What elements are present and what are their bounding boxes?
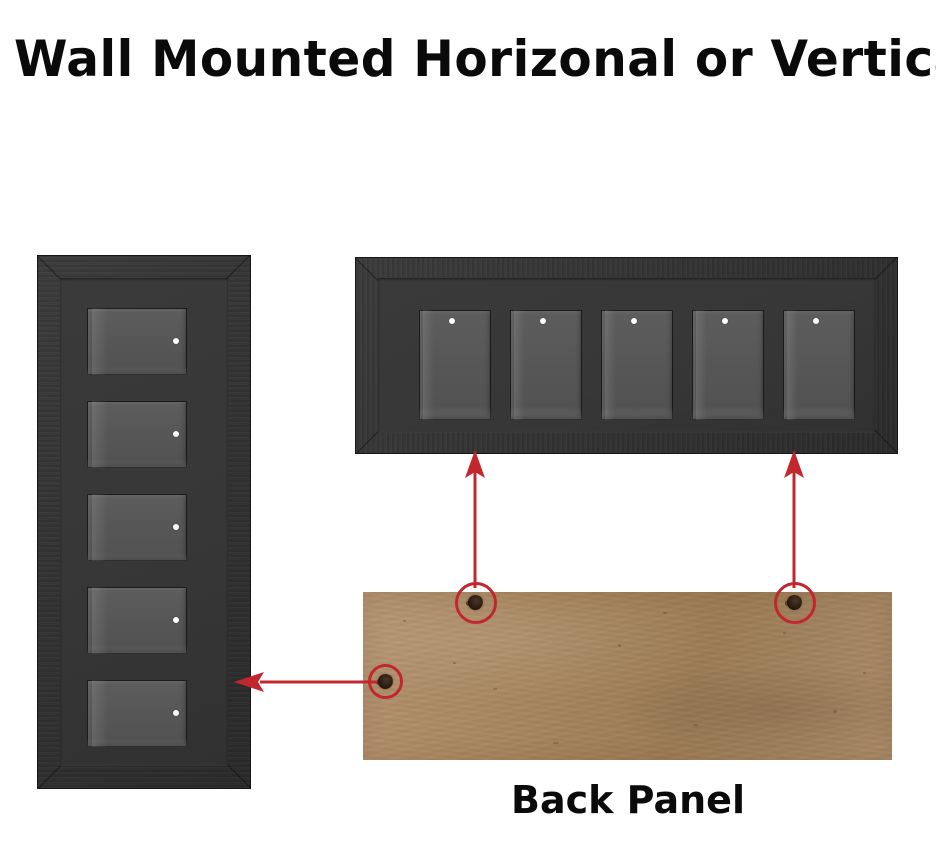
keyhole-right-highlight — [774, 582, 816, 624]
photo-dot-icon — [722, 318, 728, 324]
horizontal-frame-opening-2 — [510, 310, 582, 420]
photo-dot-icon — [173, 710, 179, 716]
photo-dot-icon — [173, 524, 179, 530]
photo-dot-icon — [813, 318, 819, 324]
page-title: Wall Mounted Horizonal or Vertical — [14, 30, 922, 88]
horizontal-frame — [356, 258, 897, 453]
arrow-center — [460, 448, 490, 588]
vertical-frame — [38, 256, 250, 788]
vertical-frame-opening-1 — [87, 308, 187, 375]
photo-dot-icon — [173, 431, 179, 437]
photo-dot-icon — [631, 318, 637, 324]
horizontal-frame-opening-3 — [601, 310, 673, 420]
horizontal-frame-opening-5 — [783, 310, 855, 420]
photo-dot-icon — [540, 318, 546, 324]
keyhole-center-highlight — [455, 582, 497, 624]
photo-dot-icon — [173, 617, 179, 623]
vertical-frame-opening-3 — [87, 494, 187, 561]
back-panel-caption: Back Panel — [363, 778, 893, 822]
photo-dot-icon — [449, 318, 455, 324]
arrow-left — [232, 668, 377, 696]
arrow-right — [779, 448, 809, 588]
back-panel — [363, 592, 892, 760]
diagram-canvas: Wall Mounted Horizonal or Vertical — [0, 0, 936, 868]
vertical-frame-opening-5 — [87, 680, 187, 747]
vertical-frame-opening-2 — [87, 401, 187, 468]
vertical-frame-opening-4 — [87, 587, 187, 654]
horizontal-frame-opening-4 — [692, 310, 764, 420]
photo-dot-icon — [173, 338, 179, 344]
horizontal-frame-opening-1 — [419, 310, 491, 420]
